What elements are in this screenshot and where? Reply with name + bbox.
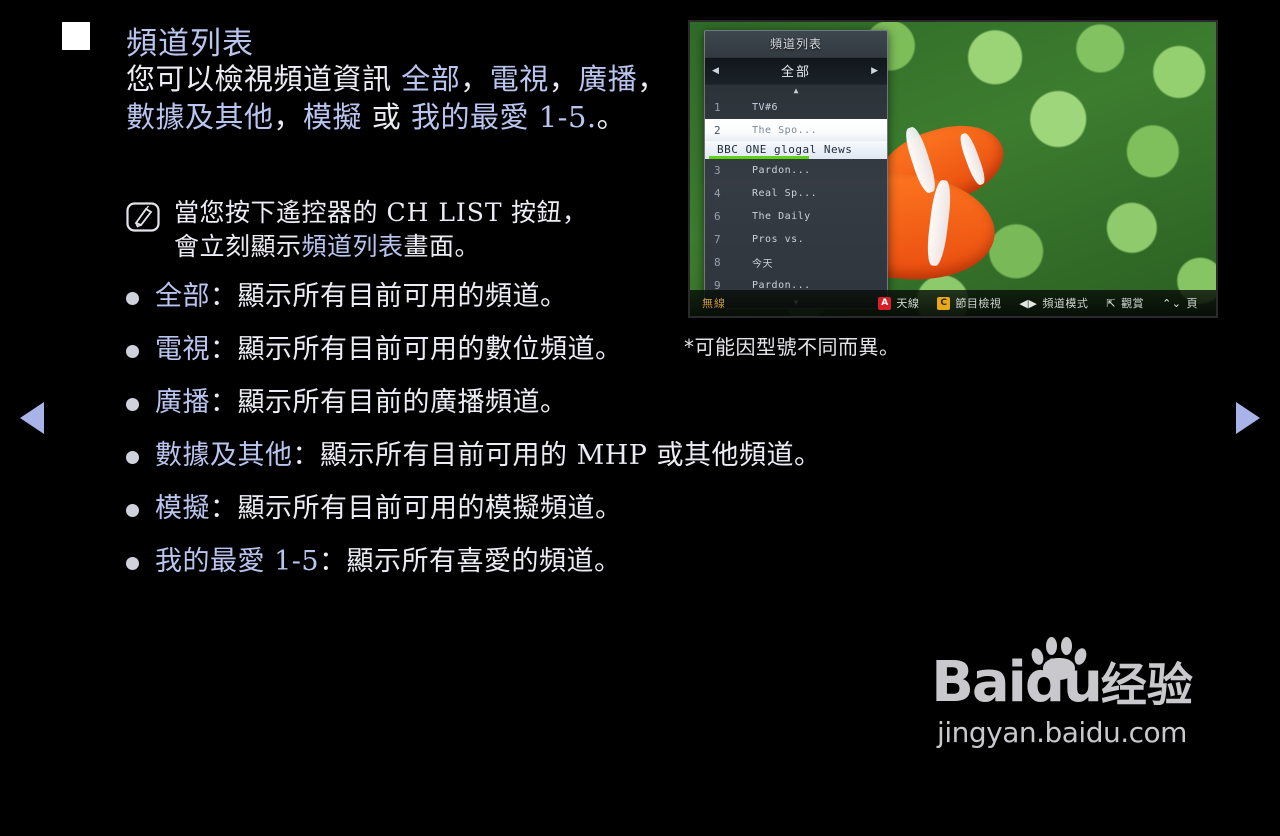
intro-keyword: 電視 — [490, 62, 549, 96]
channel-rows: 1TV#62The Spo...BBC ONE glogal News3Pard… — [705, 96, 887, 297]
channel-number: 4 — [705, 187, 752, 200]
intro-text: 。 — [597, 100, 627, 134]
note-block: 當您按下遙控器的 CH LIST 按鈕， 會立刻顯示頻道列表畫面。 — [126, 196, 686, 264]
next-page-arrow[interactable] — [1236, 402, 1260, 434]
channel-name: The Daily — [752, 211, 811, 222]
note-keyword-channel-list: 頻道列表 — [302, 232, 404, 261]
channel-number: 1 — [705, 101, 752, 114]
channel-list-title: 頻道列表 — [705, 31, 887, 57]
tv-key-hint[interactable]: ⇱觀賞 — [1106, 295, 1144, 311]
intro-keyword: 我的最愛 1-5. — [411, 100, 597, 134]
list-item-text: 電視：顯示所有目前可用的數位頻道。 — [155, 331, 623, 368]
intro-keyword: 模擬 — [303, 100, 362, 134]
note-line2-a: 會立刻顯示 — [174, 232, 302, 261]
page-title: 頻道列表 — [126, 18, 254, 63]
channel-row[interactable]: 3Pardon... — [705, 159, 887, 182]
list-item-description: ：顯示所有目前可用的頻道。 — [210, 281, 568, 312]
intro-text: 您可以檢視頻道資訊 — [126, 62, 401, 96]
intro-text: ， — [460, 62, 490, 96]
channel-number: 3 — [705, 164, 752, 177]
list-item-term: 數據及其他 — [155, 440, 293, 471]
list-item-description: ：顯示所有目前的廣播頻道。 — [210, 387, 568, 418]
list-item: 模擬：顯示所有目前可用的模擬頻道。 — [126, 490, 896, 527]
tv-key-chip-icon: ⌃⌄ — [1162, 297, 1181, 310]
channel-number: 2 — [705, 124, 752, 137]
channel-row[interactable]: 4Real Sp... — [705, 182, 887, 205]
intro-paragraph: 您可以檢視頻道資訊 全部，電視，廣播，數據及其他，模擬 或 我的最愛 1-5.。 — [126, 60, 671, 136]
channel-filter-selector[interactable]: ◀ 全部 ▶ — [705, 57, 887, 85]
intro-text: ， — [549, 62, 579, 96]
note-pencil-icon — [126, 202, 160, 232]
tv-key-hints: A天線C節目檢視◀▶頻道模式⇱觀賞⌃⌄頁 — [878, 295, 1216, 311]
channel-row-selected[interactable]: 2The Spo... — [705, 119, 887, 141]
channel-name: TV#6 — [752, 102, 778, 113]
intro-keyword: 數據及其他 — [126, 100, 274, 134]
intro-text: ， — [637, 62, 667, 96]
channel-number: 8 — [705, 256, 752, 269]
tv-key-chip-icon: C — [937, 297, 950, 310]
note-line1-b: 按鈕， — [503, 198, 588, 227]
list-item-term: 我的最愛 1-5 — [155, 546, 319, 577]
tv-key-hint[interactable]: C節目檢視 — [937, 295, 1001, 311]
list-item-term: 模擬 — [155, 493, 210, 524]
list-item: 數據及其他：顯示所有目前可用的 MHP 或其他頻道。 — [126, 437, 896, 474]
tv-key-chip-icon: ⇱ — [1106, 297, 1116, 310]
square-bullet-icon — [62, 22, 90, 50]
list-item-text: 全部：顯示所有目前可用的頻道。 — [155, 278, 568, 315]
tv-key-chip-icon: A — [878, 297, 891, 310]
list-item-term: 全部 — [155, 281, 210, 312]
channel-number: 6 — [705, 210, 752, 223]
model-variation-footnote: *可能因型號不同而異。 — [684, 331, 900, 360]
bullet-dot-icon — [126, 292, 139, 305]
paw-print-icon — [1030, 636, 1086, 680]
channel-list-panel: 頻道列表 ◀ 全部 ▶ ▲ 1TV#62The Spo...BBC ONE gl… — [704, 30, 888, 309]
tv-status-bar: 無線 A天線C節目檢視◀▶頻道模式⇱觀賞⌃⌄頁 — [690, 290, 1216, 316]
list-item-description: ：顯示所有目前可用的數位頻道。 — [210, 334, 623, 365]
channel-name: 今天 — [752, 255, 773, 270]
tv-key-label: 觀賞 — [1121, 295, 1144, 311]
list-item-term: 電視 — [155, 334, 210, 365]
prev-page-arrow[interactable] — [20, 402, 44, 434]
tv-key-label: 天線 — [896, 295, 919, 311]
tv-key-hint[interactable]: ⌃⌄頁 — [1162, 295, 1198, 311]
tv-key-hint[interactable]: ◀▶頻道模式 — [1019, 295, 1088, 311]
baidu-wordmark: Baidu经验 — [931, 650, 1193, 715]
note-line2-b: 畫面。 — [404, 232, 481, 261]
section-marker — [62, 22, 90, 50]
baidu-url: jingyan.baidu.com — [912, 716, 1212, 749]
tv-key-label: 節目檢視 — [955, 295, 1001, 311]
channel-name: Real Sp... — [752, 188, 817, 199]
list-item-description: ：顯示所有目前可用的模擬頻道。 — [210, 493, 623, 524]
channel-row[interactable]: 7Pros vs. — [705, 228, 887, 251]
intro-keyword: 全部 — [401, 62, 460, 96]
bullet-dot-icon — [126, 504, 139, 517]
channel-row[interactable]: 6The Daily — [705, 205, 887, 228]
current-program-title: BBC ONE glogal News — [705, 141, 887, 159]
caret-up-icon[interactable]: ▲ — [705, 85, 887, 96]
baidu-watermark: Baidu经验 jingyan.baidu.com — [912, 652, 1212, 749]
intro-text: 或 — [362, 100, 411, 134]
channel-name: Pros vs. — [752, 234, 804, 245]
list-item-text: 我的最愛 1-5：顯示所有喜愛的頻道。 — [155, 543, 622, 580]
caret-right-icon[interactable]: ▶ — [871, 66, 880, 76]
list-item: 廣播：顯示所有目前的廣播頻道。 — [126, 384, 896, 421]
tv-key-label: 頻道模式 — [1042, 295, 1088, 311]
channel-number: 7 — [705, 233, 752, 246]
channel-name: Pardon... — [752, 165, 811, 176]
tv-key-label: 頁 — [1187, 295, 1199, 311]
tv-screen-mockup: 頻道列表 ◀ 全部 ▶ ▲ 1TV#62The Spo...BBC ONE gl… — [688, 20, 1218, 318]
channel-filter-value: 全部 — [781, 65, 811, 80]
bullet-dot-icon — [126, 345, 139, 358]
channel-row[interactable]: 1TV#6 — [705, 96, 887, 119]
note-line1-a: 當您按下遙控器的 — [174, 198, 386, 227]
list-item-description: ：顯示所有喜愛的頻道。 — [319, 546, 622, 577]
list-item-description: ：顯示所有目前可用的 MHP 或其他頻道。 — [293, 440, 822, 471]
tv-key-chip-icon: ◀▶ — [1019, 297, 1037, 310]
intro-text: ， — [274, 100, 304, 134]
caret-left-icon[interactable]: ◀ — [712, 66, 721, 76]
bullet-dot-icon — [126, 451, 139, 464]
bullet-dot-icon — [126, 398, 139, 411]
list-item-text: 廣播：顯示所有目前的廣播頻道。 — [155, 384, 568, 421]
definition-list: 全部：顯示所有目前可用的頻道。電視：顯示所有目前可用的數位頻道。廣播：顯示所有目… — [126, 278, 896, 596]
list-item-term: 廣播 — [155, 387, 210, 418]
note-key-chlist: CH LIST — [386, 198, 502, 227]
tv-key-hint[interactable]: A天線 — [878, 295, 919, 311]
tv-source-label: 無線 — [690, 295, 878, 311]
list-item-text: 模擬：顯示所有目前可用的模擬頻道。 — [155, 490, 623, 527]
channel-row[interactable]: 8今天 — [705, 251, 887, 274]
list-item-text: 數據及其他：顯示所有目前可用的 MHP 或其他頻道。 — [155, 437, 822, 474]
channel-name: The Spo... — [752, 125, 817, 136]
intro-keyword: 廣播 — [578, 62, 637, 96]
list-item: 我的最愛 1-5：顯示所有喜愛的頻道。 — [126, 543, 896, 580]
program-progress-bar — [709, 156, 809, 159]
bullet-dot-icon — [126, 557, 139, 570]
note-text: 當您按下遙控器的 CH LIST 按鈕， 會立刻顯示頻道列表畫面。 — [174, 196, 588, 264]
